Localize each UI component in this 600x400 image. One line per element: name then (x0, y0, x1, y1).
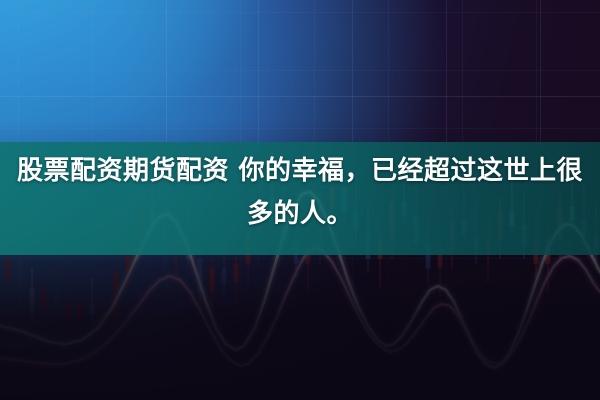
page-title: 股票配资期货配资 你的幸福，已经超过这世上很多的人。 (0, 150, 600, 236)
stock-banner: 股票配资期货配资 你的幸福，已经超过这世上很多的人。 (0, 0, 600, 400)
